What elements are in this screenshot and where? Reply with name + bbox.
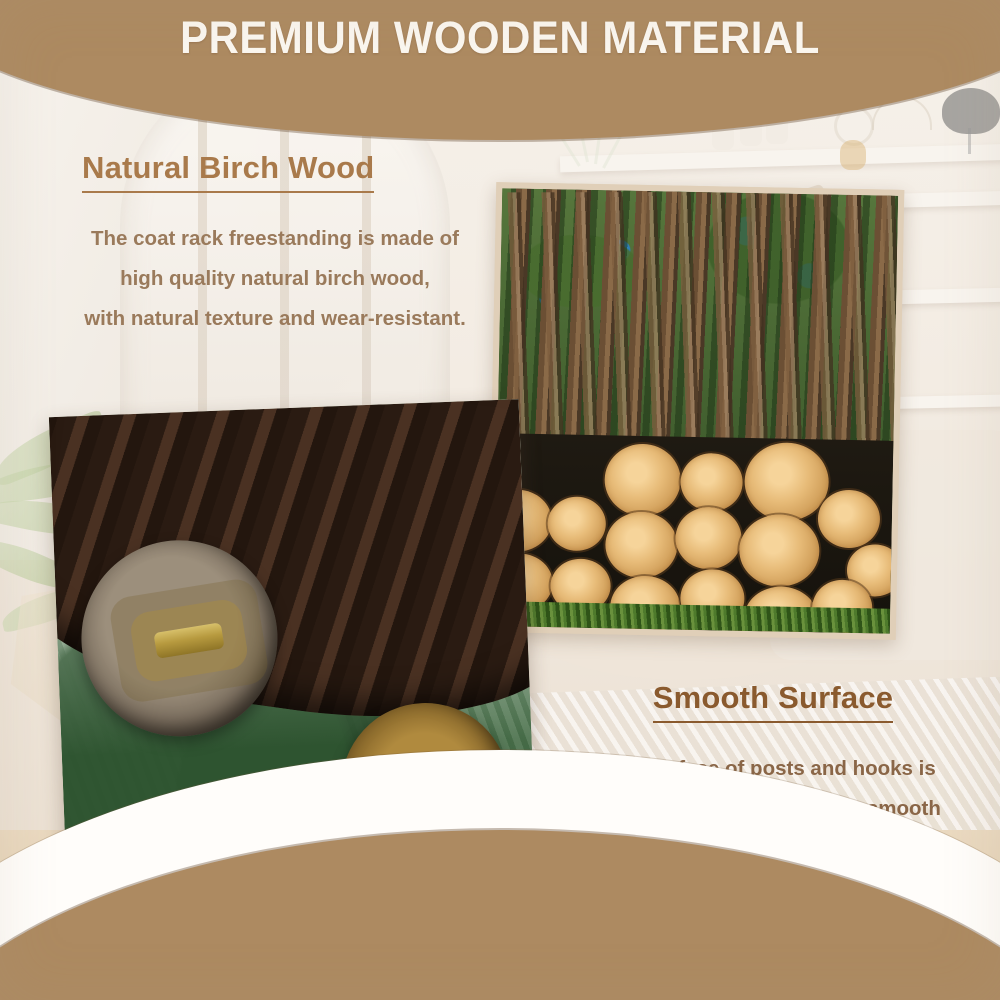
- screw-icon: [153, 622, 224, 659]
- body-line: high quality natural birch wood,: [60, 259, 490, 299]
- background-shelf: [560, 144, 1000, 173]
- poster-canvas: PREMIUM WOODEN MATERIAL Natural Birch Wo…: [0, 0, 1000, 1000]
- page-title: PREMIUM WOODEN MATERIAL: [35, 12, 965, 64]
- section-heading-birch: Natural Birch Wood: [82, 150, 374, 193]
- forest-logs-photo: [488, 182, 905, 640]
- decor-bear-icon: [840, 140, 866, 170]
- section-body-birch: The coat rack freestanding is made of hi…: [60, 219, 490, 339]
- body-line: with natural texture and wear-resistant.: [60, 299, 490, 339]
- body-line: The coat rack freestanding is made of: [60, 219, 490, 259]
- section-natural-birch-wood: Natural Birch Wood The coat rack freesta…: [60, 150, 490, 339]
- section-heading-smooth: Smooth Surface: [653, 680, 894, 723]
- decor-vase-icon: [942, 88, 1000, 134]
- log-pile: [494, 433, 894, 633]
- decor-stem-icon: [968, 128, 971, 154]
